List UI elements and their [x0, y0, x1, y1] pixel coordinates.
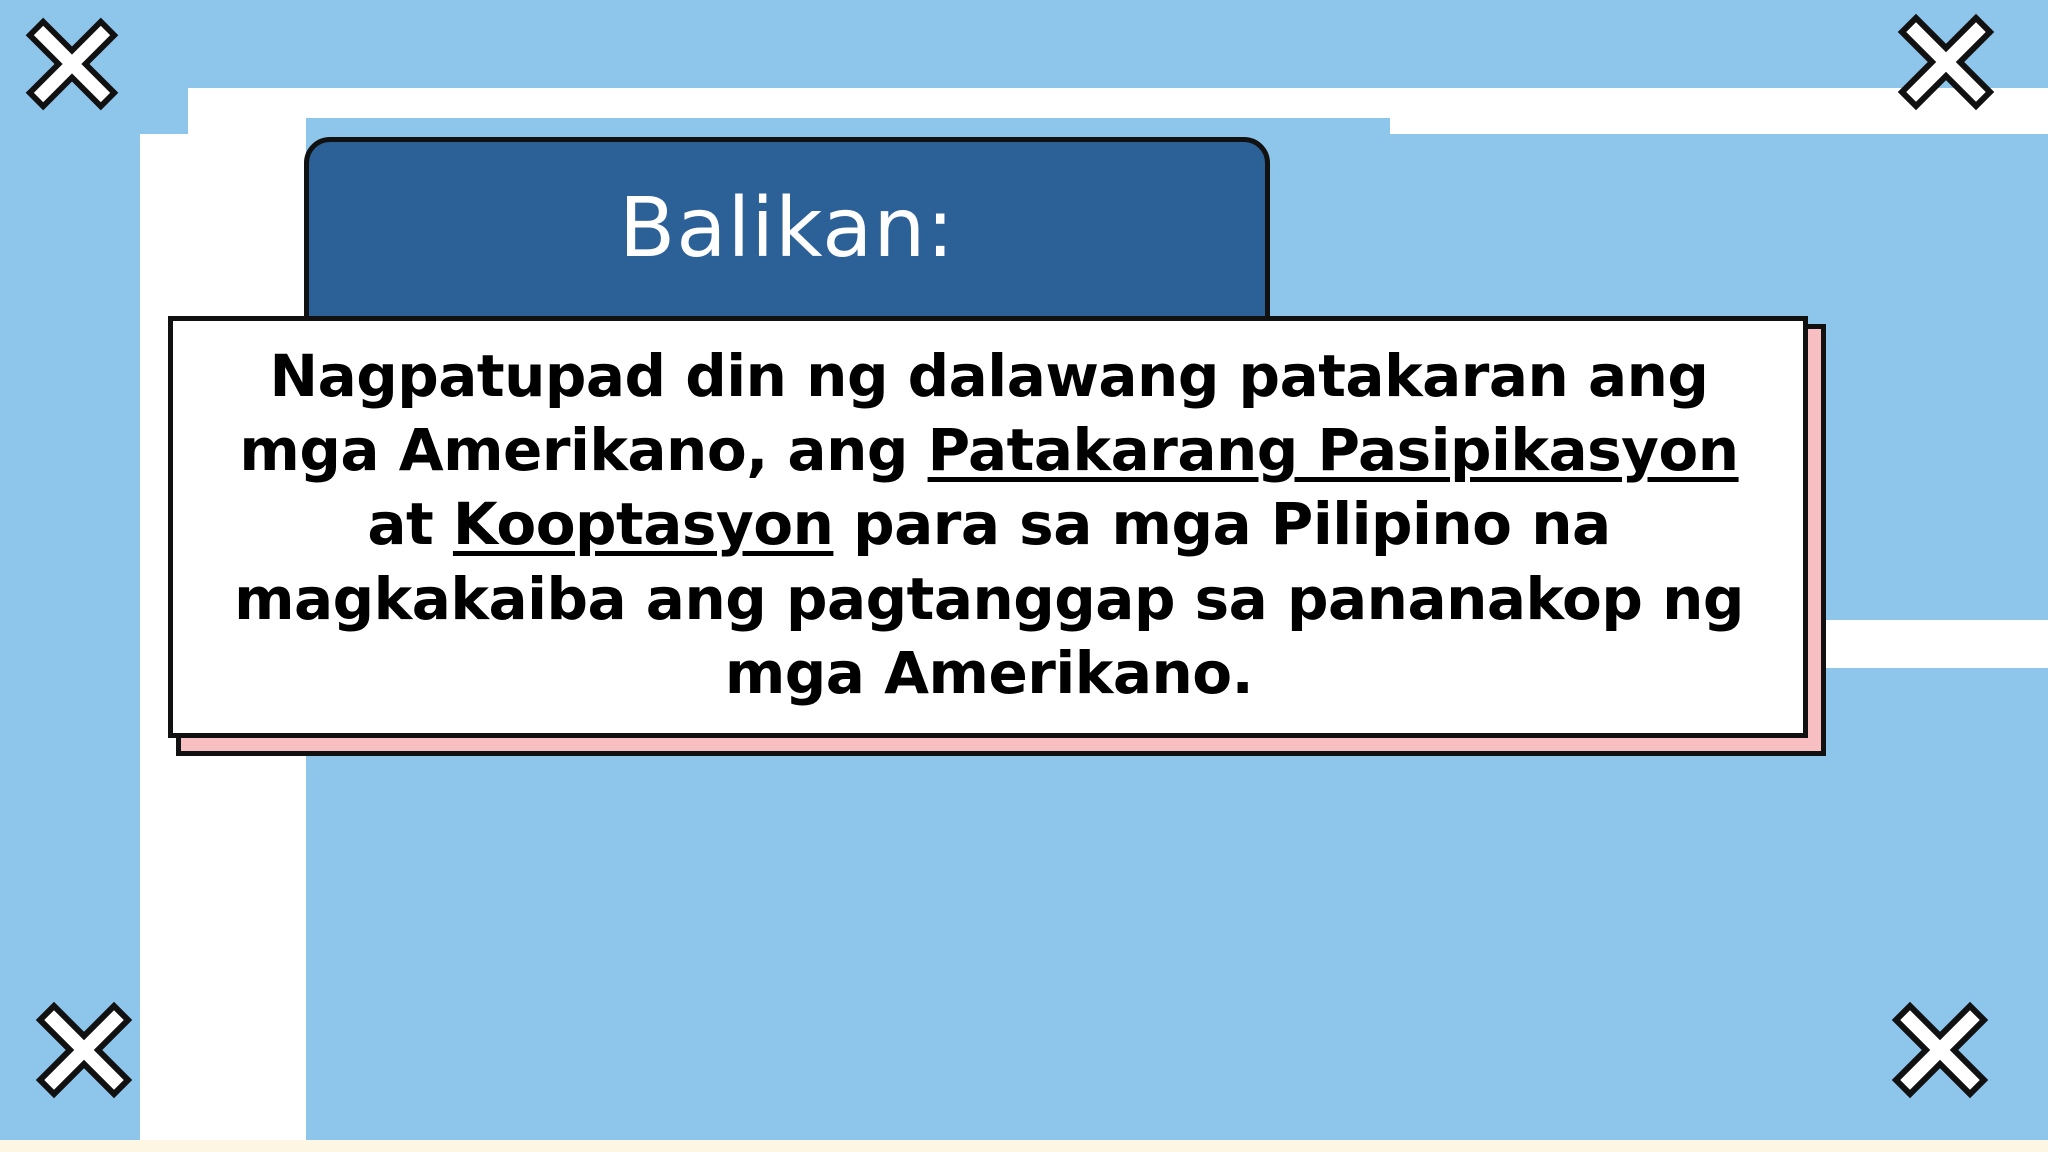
- blue-block-bottom-right: [1806, 668, 2048, 1039]
- body-text: Nagpatupad din ng dalawang patakaran ang…: [207, 339, 1771, 710]
- white-band-middle-right: [1806, 620, 2048, 668]
- blue-edge-left: [0, 0, 140, 1152]
- x-decoration-top-right: [1896, 12, 1996, 112]
- x-decoration-bottom-right: [1890, 1000, 1990, 1100]
- cream-strip-bottom: [0, 1140, 2048, 1152]
- white-frame-notch: [140, 88, 188, 134]
- blue-band-bottom: [306, 1039, 2048, 1152]
- body-card: Nagpatupad din ng dalawang patakaran ang…: [168, 316, 1808, 738]
- x-decoration-bottom-left: [34, 1000, 134, 1100]
- body-text-emphasis-1: Patakarang Pasipikasyon: [928, 416, 1739, 484]
- body-text-emphasis-3: Kooptasyon: [453, 490, 833, 558]
- page-title: Balikan:: [309, 184, 1265, 274]
- body-text-run-2: at: [367, 490, 453, 558]
- slide-canvas: Balikan: Nagpatupad din ng dalawang pata…: [0, 0, 2048, 1152]
- x-decoration-top-left: [24, 16, 120, 112]
